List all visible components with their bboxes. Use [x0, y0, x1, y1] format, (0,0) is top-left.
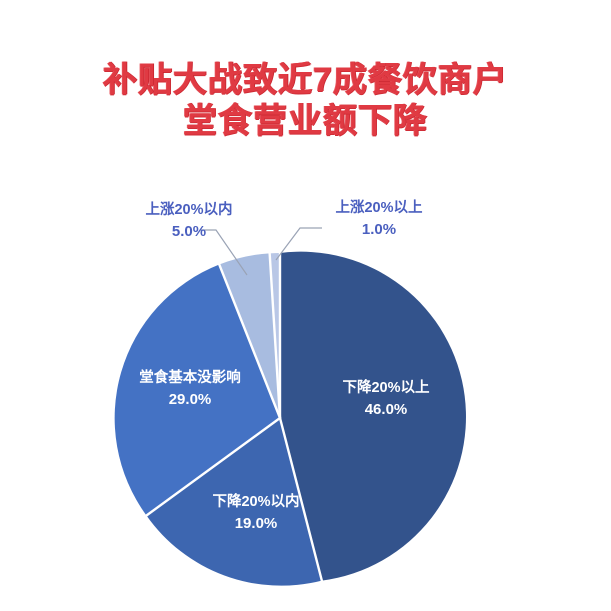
pie-chart-svg — [0, 0, 611, 611]
pie-chart: 下降20%以上 46.0% 下降20%以内 19.0% 堂食基本没影响 29.0… — [0, 0, 611, 611]
chart-page: 补贴大战致近7成餐饮商户 堂食营业额下降 — [0, 0, 611, 611]
